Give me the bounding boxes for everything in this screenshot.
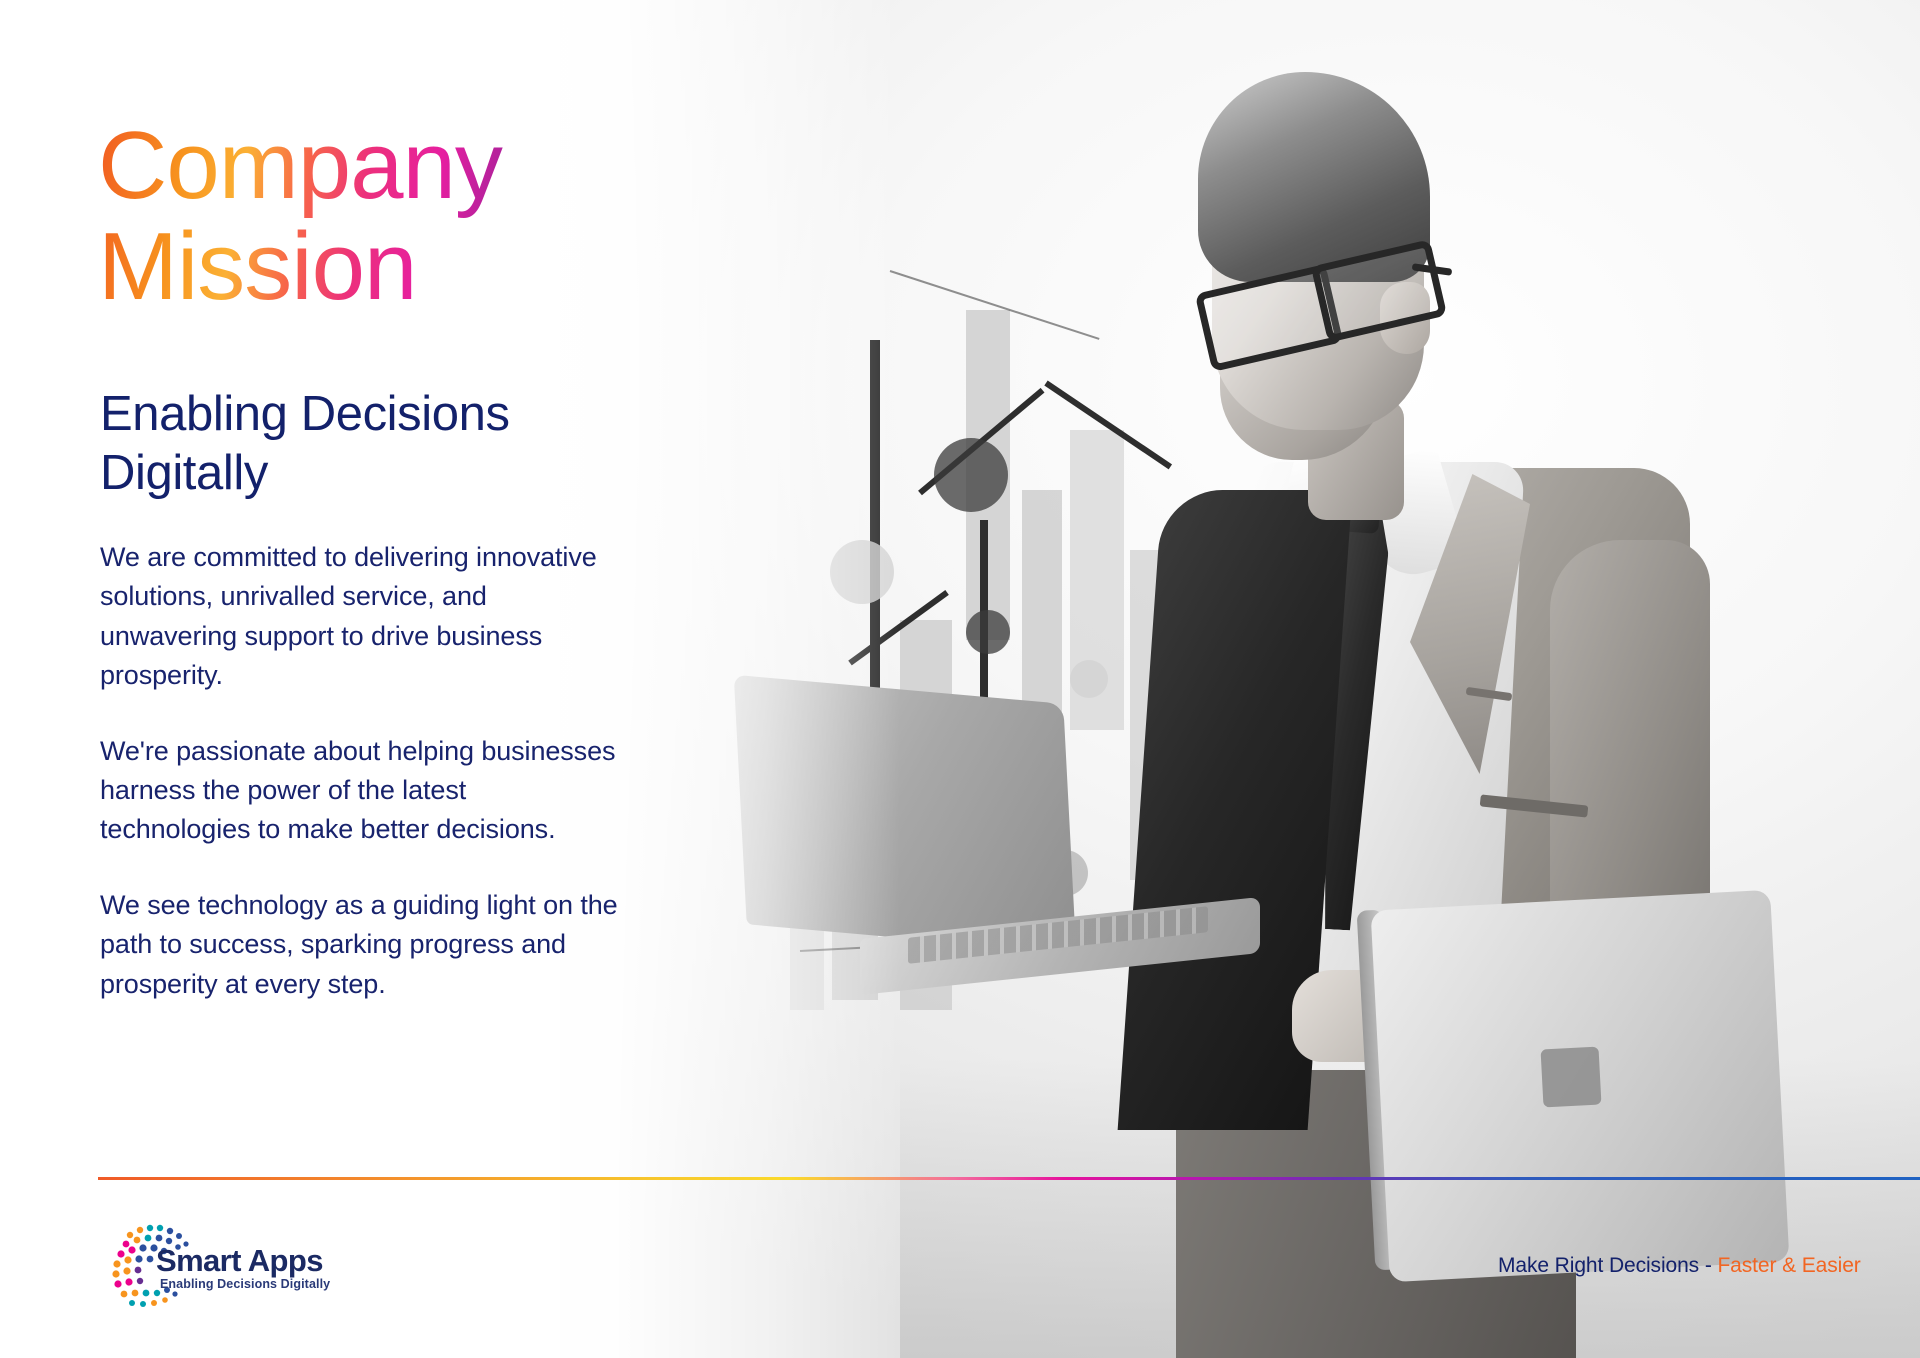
logo-tagline: Enabling Decisions Digitally — [160, 1277, 330, 1291]
page-title: Company Mission — [98, 116, 638, 318]
footer-tagline-primary: Make Right Decisions - — [1498, 1254, 1717, 1277]
mission-paragraph-1: We are committed to delivering innovativ… — [100, 538, 620, 696]
footer-tagline-accent: Faster & Easier — [1717, 1254, 1860, 1277]
mission-body-copy: We are committed to delivering innovativ… — [100, 538, 620, 1004]
footer-tagline: Make Right Decisions - Faster & Easier — [1498, 1254, 1861, 1278]
page-subtitle: Enabling Decisions Digitally — [100, 385, 630, 505]
company-mission-slide: Company Mission Enabling Decisions Digit… — [0, 0, 1920, 1358]
mission-paragraph-3: We see technology as a guiding light on … — [100, 886, 620, 1004]
page-title-line-2: Mission — [98, 217, 638, 318]
closed-laptop — [1380, 900, 1800, 1300]
footer-divider — [98, 1177, 1920, 1180]
page-title-line-1: Company — [98, 116, 638, 217]
logo-wordmark: Smart Apps — [156, 1243, 323, 1279]
smart-apps-logo[interactable]: Smart Apps Enabling Decisions Digitally — [100, 1213, 306, 1321]
text-panel: Company Mission Enabling Decisions Digit… — [0, 0, 620, 1358]
mission-paragraph-2: We're passionate about helping businesse… — [100, 732, 620, 850]
